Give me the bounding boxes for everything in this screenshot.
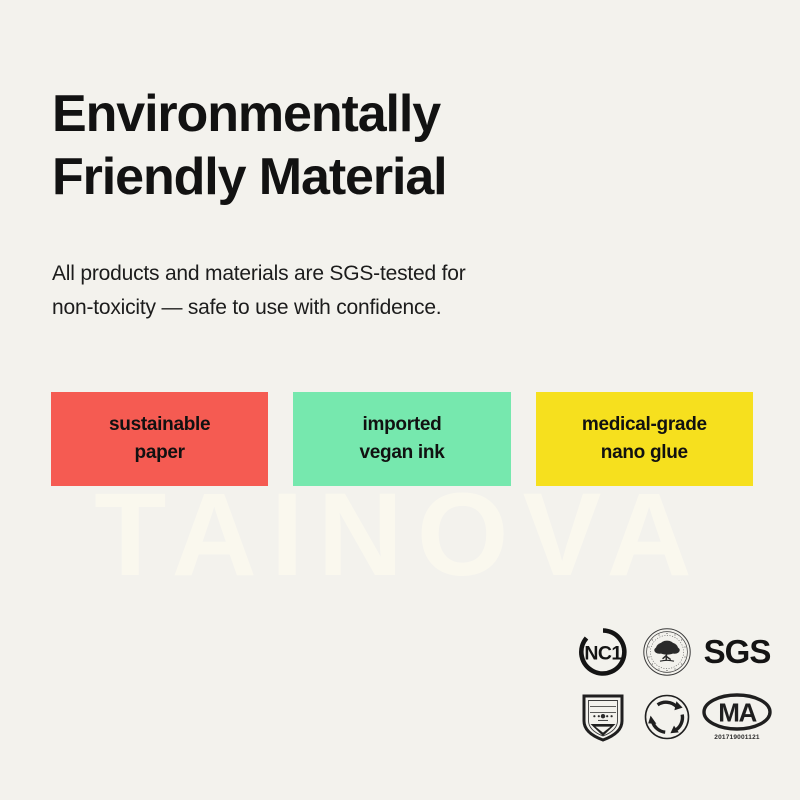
cma-icon: MA 201719001121 — [701, 685, 773, 748]
material-badge-label-line-1: imported — [363, 411, 442, 439]
page-title-line-2: Friendly Material — [52, 146, 692, 209]
page-title-line-1: Environmentally — [52, 85, 440, 143]
material-badge-label-line-1: sustainable — [109, 411, 210, 439]
tree-seal-icon — [637, 620, 697, 683]
sgs-icon: SGS — [701, 620, 773, 683]
page-subtitle: All products and materials are SGS-teste… — [52, 257, 652, 325]
svg-text:NC1: NC1 — [584, 642, 622, 664]
material-badge-imported-vegan-ink: imported vegan ink — [293, 392, 510, 486]
sgs-label: SGS — [704, 635, 771, 668]
material-badge-label-line-1: medical-grade — [582, 411, 707, 439]
material-badge-label-line-2: paper — [135, 439, 185, 467]
poster-canvas: TAINOVA Environmentally Friendly Materia… — [0, 0, 800, 800]
svg-text:MA: MA — [718, 697, 757, 727]
cma-certificate-number: 201719001121 — [714, 734, 759, 741]
material-badge-sustainable-paper: sustainable paper — [51, 392, 268, 486]
certification-logo-grid: NC1 — [573, 620, 773, 748]
material-badge-label-line-2: nano glue — [601, 439, 688, 467]
nc1-icon: NC1 — [573, 620, 633, 683]
brand-watermark: TAINOVA — [0, 476, 800, 594]
material-badge-medical-grade-nano-glue: medical-grade nano glue — [536, 392, 753, 486]
page-subtitle-line-2: non-toxicity — safe to use with confiden… — [52, 291, 652, 325]
material-badge-list: sustainable paper imported vegan ink med… — [51, 392, 753, 486]
shield-icon — [573, 685, 633, 748]
page-subtitle-line-1: All products and materials are SGS-teste… — [52, 262, 466, 285]
page-title: Environmentally Friendly Material — [52, 83, 692, 210]
recycling-icon — [637, 685, 697, 748]
material-badge-label-line-2: vegan ink — [360, 439, 445, 467]
